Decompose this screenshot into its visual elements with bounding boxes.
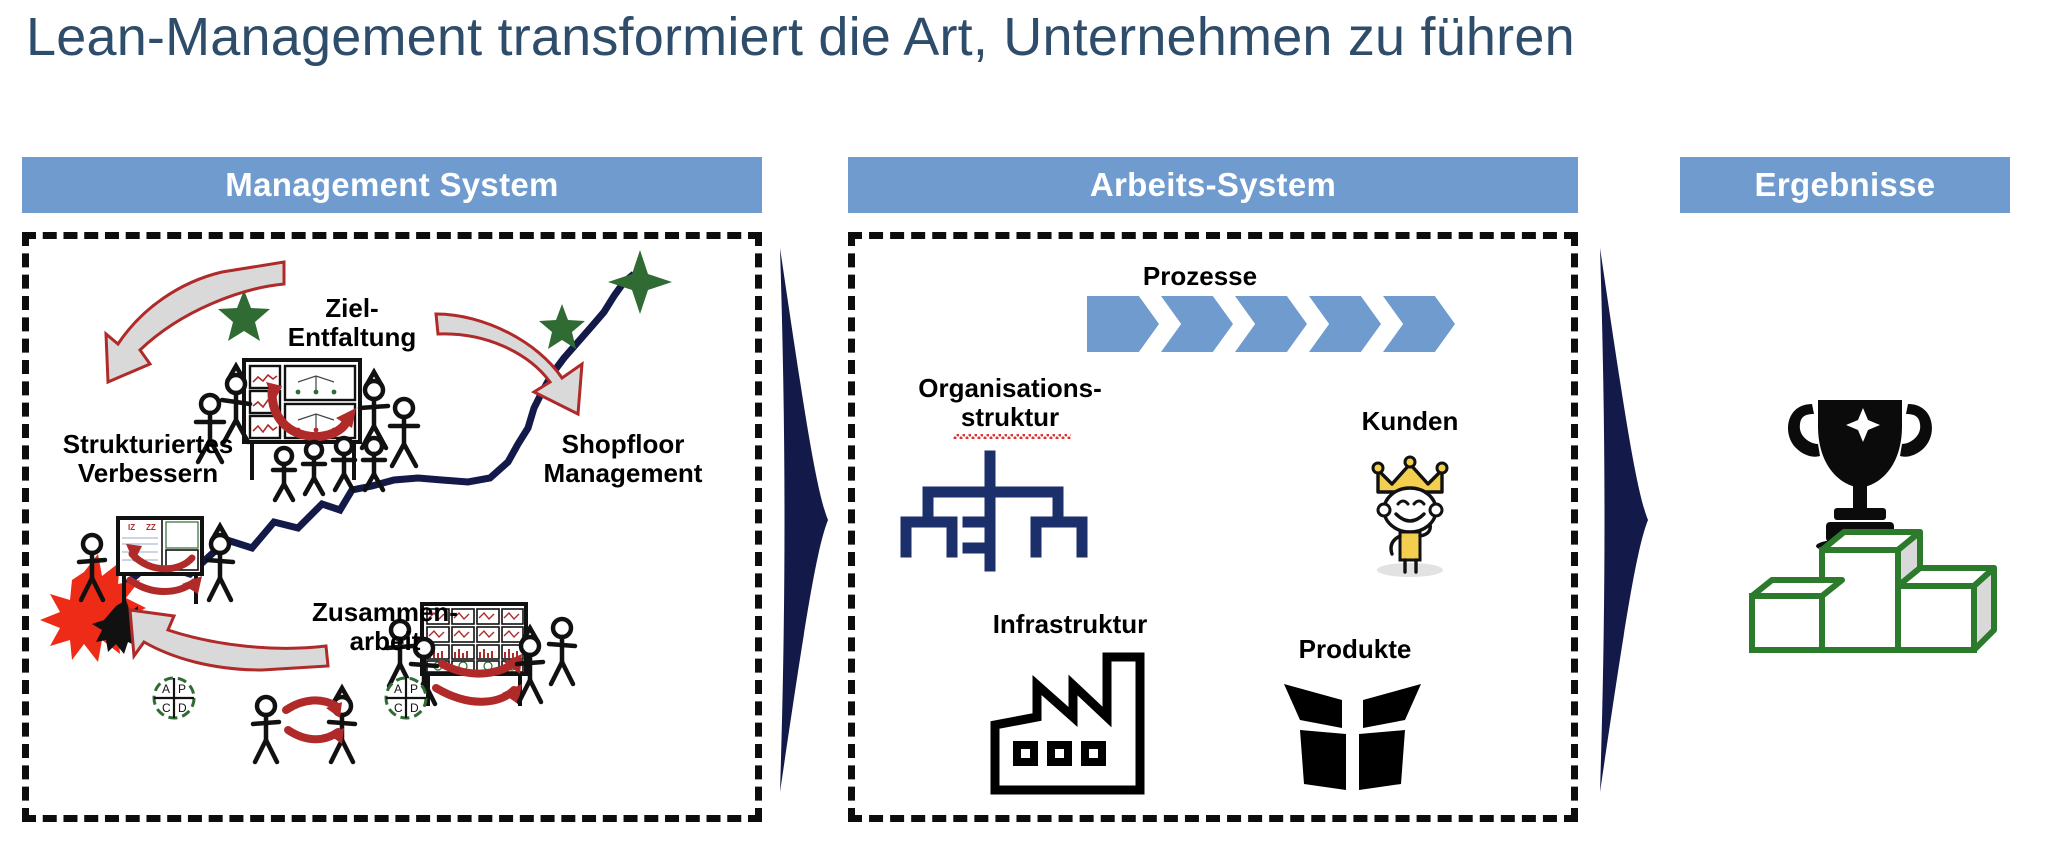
label-zusammenarbeit: Zusammen- arbeit	[290, 598, 480, 656]
pdca-circle-left: A P C D	[154, 678, 194, 718]
prozesse-chevron-3	[1235, 296, 1307, 352]
label-infrastruktur: Infrastruktur	[960, 610, 1180, 639]
board-tile-label-1: IZ	[128, 523, 135, 532]
banner-arbeits-system-label: Arbeits-System	[1090, 166, 1336, 204]
navy-leaf-arrow-1	[772, 240, 842, 800]
pdca-d-label: D	[410, 701, 419, 715]
navy-leaf-arrow-2	[1592, 240, 1662, 800]
banner-ergebnisse-label: Ergebnisse	[1755, 166, 1936, 204]
label-organisationsstruktur: Organisations- struktur	[890, 374, 1130, 432]
spellcheck-squiggle	[953, 434, 1071, 439]
pdca-d-label: D	[178, 701, 187, 715]
banner-management-system-label: Management System	[225, 166, 558, 204]
banner-arbeits-system: Arbeits-System	[848, 157, 1578, 213]
board-tile-label-2: ZZ	[146, 523, 156, 532]
pdca-c-label: C	[394, 701, 403, 715]
prozesse-chevron-5	[1383, 296, 1455, 352]
label-produkte: Produkte	[1255, 635, 1455, 664]
pdca-p-label: P	[410, 682, 418, 696]
page-title: Lean-Management transformiert die Art, U…	[26, 6, 1575, 68]
pdca-a-label: A	[394, 682, 402, 696]
banner-ergebnisse: Ergebnisse	[1680, 157, 2010, 213]
pdca-a-label: A	[162, 682, 170, 696]
banner-management-system: Management System	[22, 157, 762, 213]
prozesse-chevron-2	[1161, 296, 1233, 352]
label-ziel-entfaltung: Ziel- Entfaltung	[262, 294, 442, 352]
open-box-icon	[1280, 672, 1425, 797]
prozesse-chevron-1	[1087, 296, 1159, 352]
factory-icon	[985, 645, 1150, 800]
org-chart-icon	[890, 448, 1120, 578]
pdca-p-label: P	[178, 682, 186, 696]
pdca-circle-right: A P C D	[386, 678, 426, 718]
prozesse-chevron-row	[1087, 296, 1457, 352]
label-kunden: Kunden	[1340, 407, 1480, 436]
pdca-c-label: C	[162, 701, 171, 715]
stick-figure-group-team	[273, 438, 385, 500]
results-trophy-podium	[1730, 400, 2020, 680]
label-shopfloor-management: Shopfloor Management	[528, 430, 718, 488]
customer-king-icon	[1330, 440, 1490, 580]
label-strukturiertes-verbessern: Strukturiertes Verbessern	[38, 430, 258, 488]
label-prozesse: Prozesse	[1100, 262, 1300, 291]
sparkle-star-icon	[608, 250, 672, 314]
podium-icon	[1752, 532, 1994, 650]
prozesse-chevron-4	[1309, 296, 1381, 352]
